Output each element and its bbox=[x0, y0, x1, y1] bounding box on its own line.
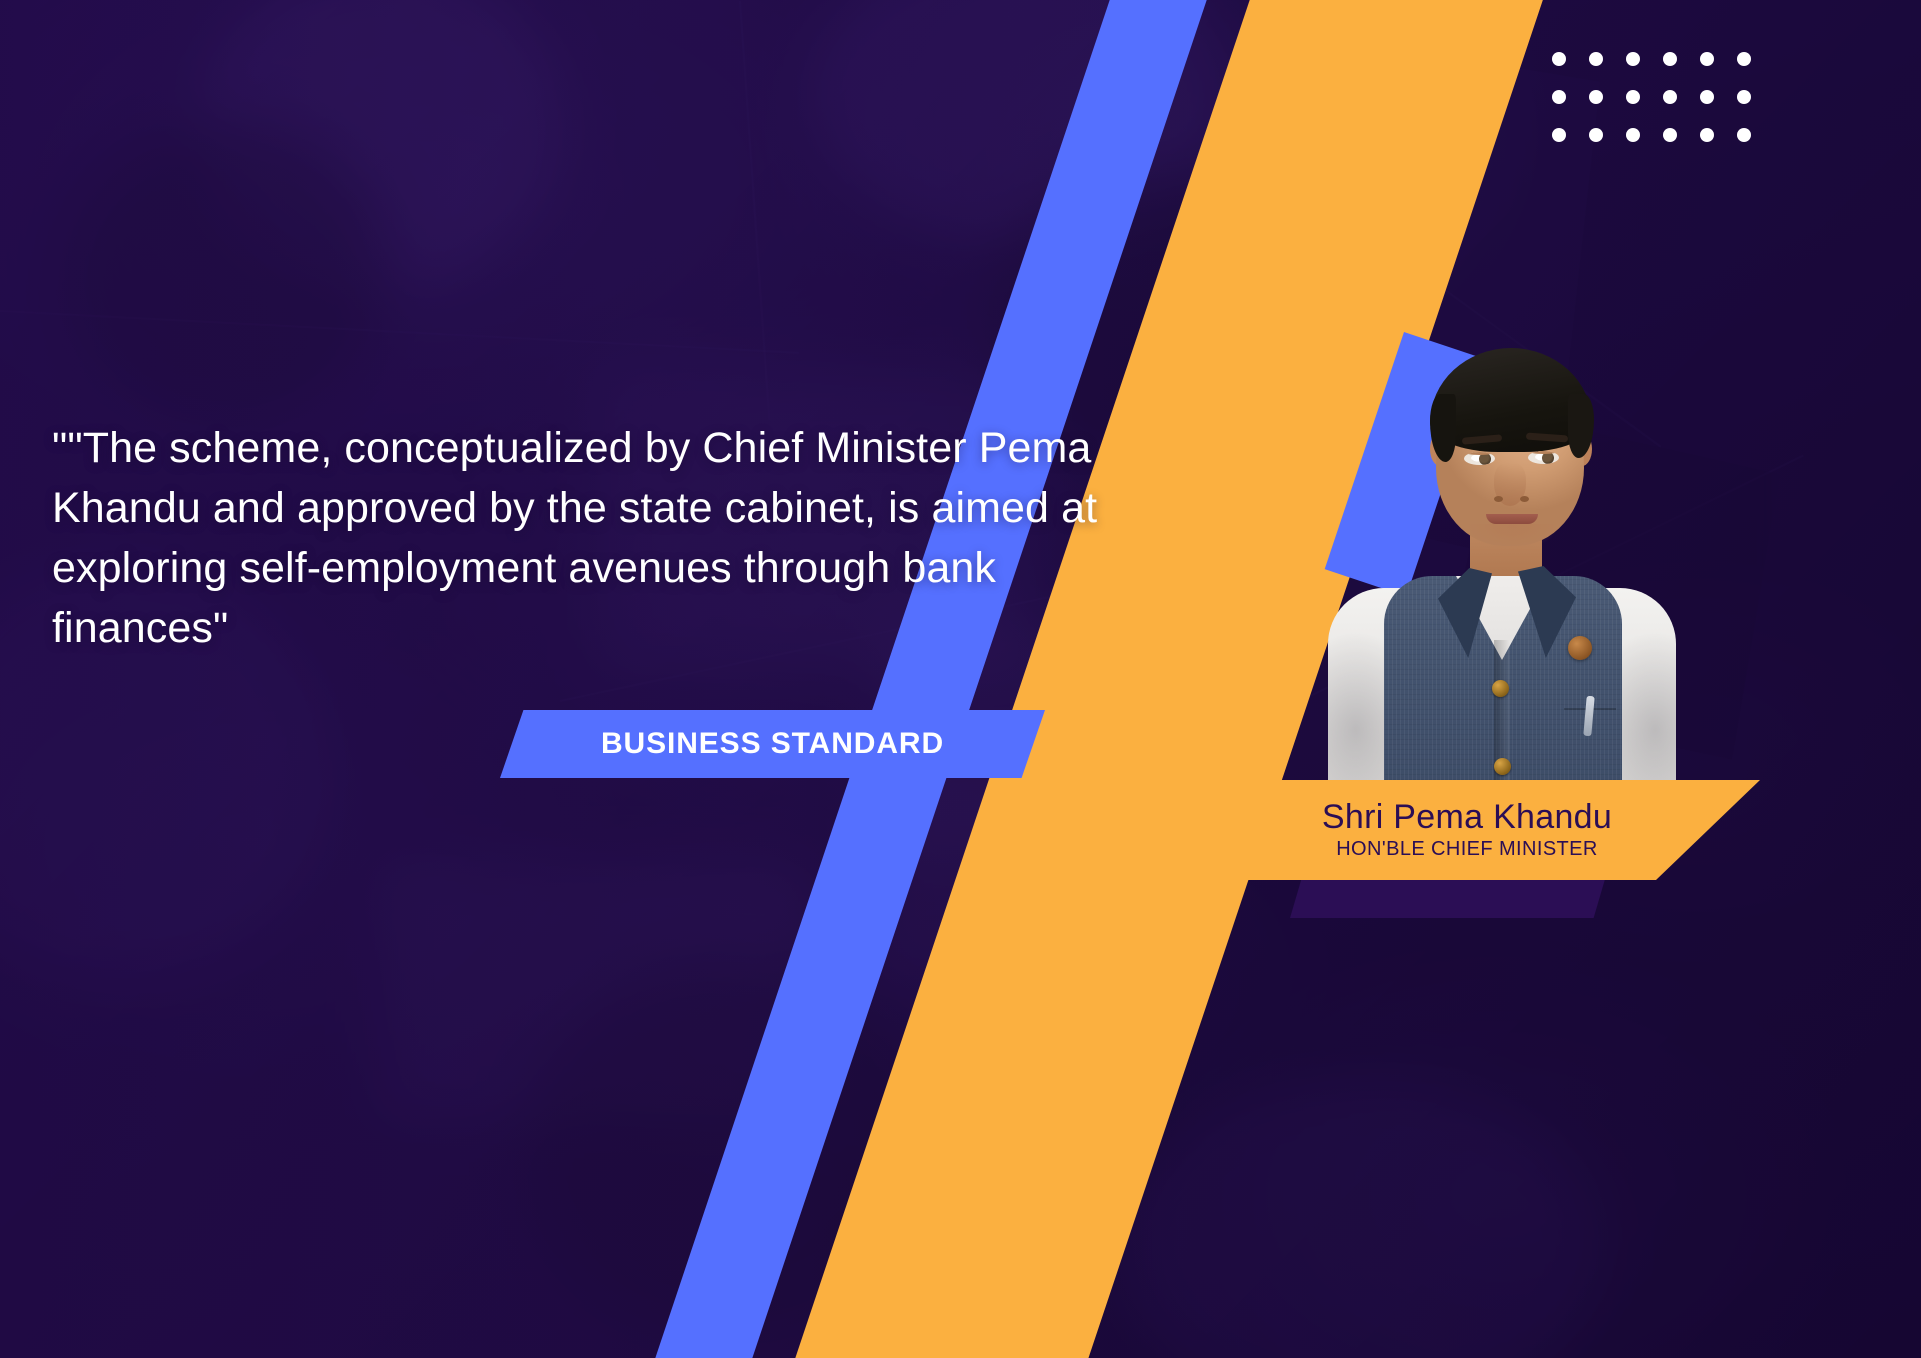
portrait-lapel-badge-icon bbox=[1568, 636, 1592, 660]
portrait-nostril-right bbox=[1520, 496, 1529, 502]
dot bbox=[1700, 128, 1714, 142]
dot bbox=[1626, 90, 1640, 104]
dot bbox=[1552, 128, 1566, 142]
dot bbox=[1737, 52, 1751, 66]
portrait-mouth bbox=[1486, 514, 1538, 524]
dot bbox=[1700, 90, 1714, 104]
nameplate-content: Shri Pema Khandu HON'BLE CHIEF MINISTER bbox=[1240, 780, 1660, 880]
dot bbox=[1626, 52, 1640, 66]
portrait-eye-right bbox=[1528, 451, 1559, 464]
dot bbox=[1552, 52, 1566, 66]
dot bbox=[1700, 52, 1714, 66]
portrait-figure bbox=[1280, 310, 1720, 810]
dot bbox=[1589, 128, 1603, 142]
dot bbox=[1663, 90, 1677, 104]
portrait-photo bbox=[1280, 310, 1720, 810]
source-banner: BUSINESS STANDARD bbox=[500, 710, 1045, 778]
portrait-eyelid-left bbox=[1464, 452, 1495, 455]
dot bbox=[1589, 52, 1603, 66]
portrait-chin-shading bbox=[1466, 524, 1558, 550]
portrait-vest-button-upper bbox=[1492, 680, 1509, 697]
portrait-vest-button-lower bbox=[1494, 758, 1511, 775]
dot bbox=[1663, 128, 1677, 142]
dot bbox=[1737, 90, 1751, 104]
person-designation: HON'BLE CHIEF MINISTER bbox=[1336, 836, 1598, 862]
dot-grid-decoration bbox=[1552, 52, 1751, 142]
portrait-nostril-left bbox=[1494, 496, 1503, 502]
source-banner-label: BUSINESS STANDARD bbox=[601, 727, 944, 761]
dot bbox=[1552, 90, 1566, 104]
person-name: Shri Pema Khandu bbox=[1322, 798, 1612, 836]
dot bbox=[1626, 128, 1640, 142]
quote-text: ""The scheme, conceptualized by Chief Mi… bbox=[52, 418, 1182, 658]
portrait-eye-left bbox=[1464, 452, 1495, 465]
dot bbox=[1589, 90, 1603, 104]
portrait-eyelid-right bbox=[1528, 451, 1559, 454]
quote-card: ""The scheme, conceptualized by Chief Mi… bbox=[0, 0, 1921, 1358]
dot bbox=[1663, 52, 1677, 66]
dot bbox=[1737, 128, 1751, 142]
